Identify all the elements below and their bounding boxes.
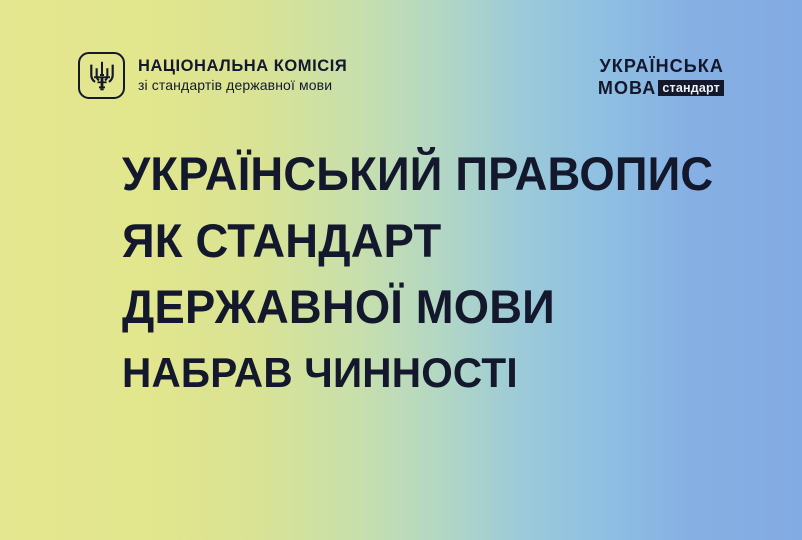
brand-left-text: НАЦІОНАЛЬНА КОМІСІЯ зі стандартів держав… (138, 58, 347, 93)
headline-line-3: ДЕРЖАВНОЇ МОВИ (122, 283, 759, 330)
brand-right-row: МОВА стандарт (598, 78, 724, 98)
poster-header: НАЦІОНАЛЬНА КОМІСІЯ зі стандартів держав… (0, 0, 802, 130)
headline-block: УКРАЇНСЬКИЙ ПРАВОПИС ЯК СТАНДАРТ ДЕРЖАВН… (122, 150, 782, 394)
brand-right-line1: УКРАЇНСЬКА (600, 56, 725, 76)
commission-subtitle: зі стандартів державної мови (138, 78, 347, 93)
brand-lockup-right: УКРАЇНСЬКА МОВА стандарт (598, 56, 724, 98)
headline-line-1: УКРАЇНСЬКИЙ ПРАВОПИС (122, 150, 759, 197)
commission-name: НАЦІОНАЛЬНА КОМІСІЯ (138, 58, 347, 75)
brand-right-line2: МОВА (598, 78, 657, 98)
headline-line-4: НАБРАВ ЧИННОСТІ (122, 352, 759, 394)
headline-line-2: ЯК СТАНДАРТ (122, 217, 759, 264)
poster-canvas: НАЦІОНАЛЬНА КОМІСІЯ зі стандартів держав… (0, 0, 802, 540)
ukrainian-trident-icon (78, 52, 125, 99)
standard-badge: стандарт (658, 80, 724, 97)
brand-lockup-left: НАЦІОНАЛЬНА КОМІСІЯ зі стандартів держав… (78, 52, 347, 99)
